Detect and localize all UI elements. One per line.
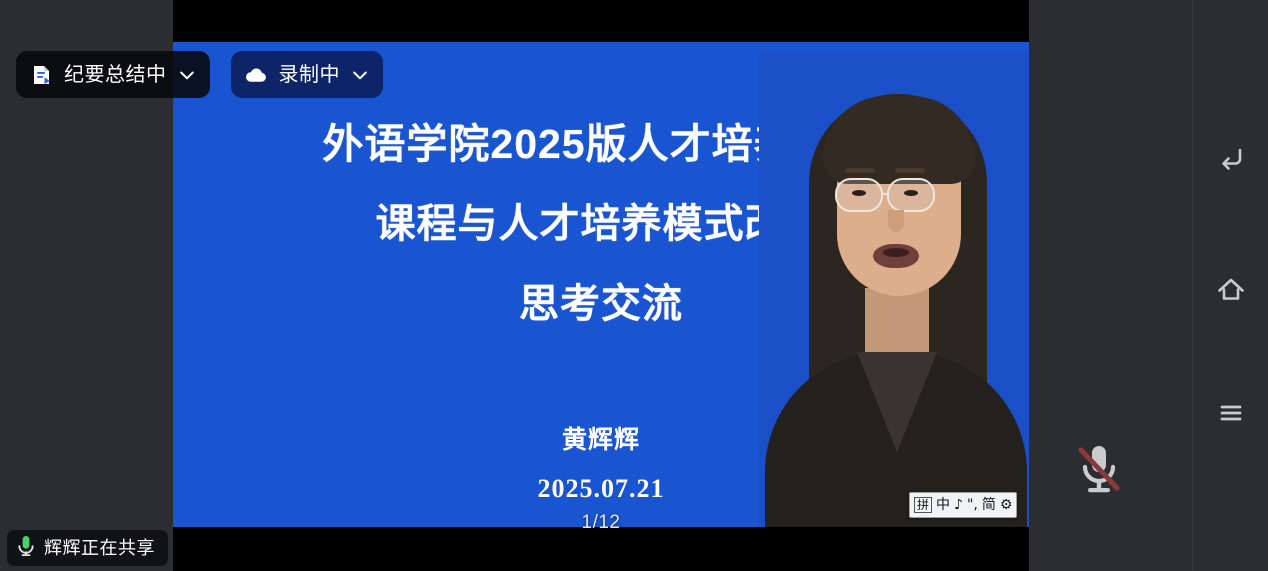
presentation-slide[interactable]: 外语学院2025版人才培养方案 课程与人才培养模式改革 思考交流 黄辉辉 202… <box>173 42 1029 527</box>
presenter-eyebrow-right <box>895 168 925 173</box>
ime-sound-icon[interactable]: ♪ <box>954 498 963 512</box>
ime-punctuation-icon[interactable]: ", <box>967 498 978 512</box>
ime-chinese-mode-icon[interactable]: 中 <box>936 498 950 512</box>
back-arrow-icon[interactable] <box>1207 134 1255 182</box>
ime-simplified-icon[interactable]: 简 <box>982 498 996 512</box>
status-pill-row: 纪要总结中 录制中 <box>16 51 383 98</box>
presenter-eye-left <box>852 190 866 196</box>
presenter-eyebrow-left <box>845 168 875 173</box>
presenter-nose <box>888 210 904 232</box>
presenter-eye-right <box>904 190 918 196</box>
ime-settings-gear-icon[interactable]: ⚙ <box>1000 498 1013 512</box>
sharing-status-badge[interactable]: 辉辉正在共享 <box>7 530 168 566</box>
slide-page-indicator: 1/12 <box>173 512 1029 534</box>
chevron-down-icon[interactable] <box>177 65 197 85</box>
recent-apps-icon[interactable] <box>1207 389 1255 437</box>
sharing-status-label: 辉辉正在共享 <box>44 539 155 557</box>
microphone-icon <box>17 535 35 562</box>
presenter-mouth-inner <box>883 248 909 257</box>
recording-pill[interactable]: 录制中 <box>231 51 384 98</box>
recording-label: 录制中 <box>279 65 341 85</box>
presenter-glasses-bridge <box>883 193 889 195</box>
minutes-summary-label: 纪要总结中 <box>64 65 167 85</box>
microphone-muted-icon[interactable] <box>1070 438 1128 500</box>
ime-pinyin-icon[interactable]: 拼 <box>914 497 932 513</box>
document-summary-icon <box>29 62 54 87</box>
android-navigation-rail <box>1192 0 1268 571</box>
presenter-mouth <box>873 244 919 268</box>
presenter-video-thumbnail[interactable] <box>759 52 1029 527</box>
cloud-icon <box>244 62 269 87</box>
screen-share-viewer: 外语学院2025版人才培养方案 课程与人才培养模式改革 思考交流 黄辉辉 202… <box>0 0 1268 571</box>
minutes-summary-pill[interactable]: 纪要总结中 <box>16 51 210 98</box>
home-icon[interactable] <box>1207 266 1255 314</box>
chevron-down-icon[interactable] <box>350 65 370 85</box>
